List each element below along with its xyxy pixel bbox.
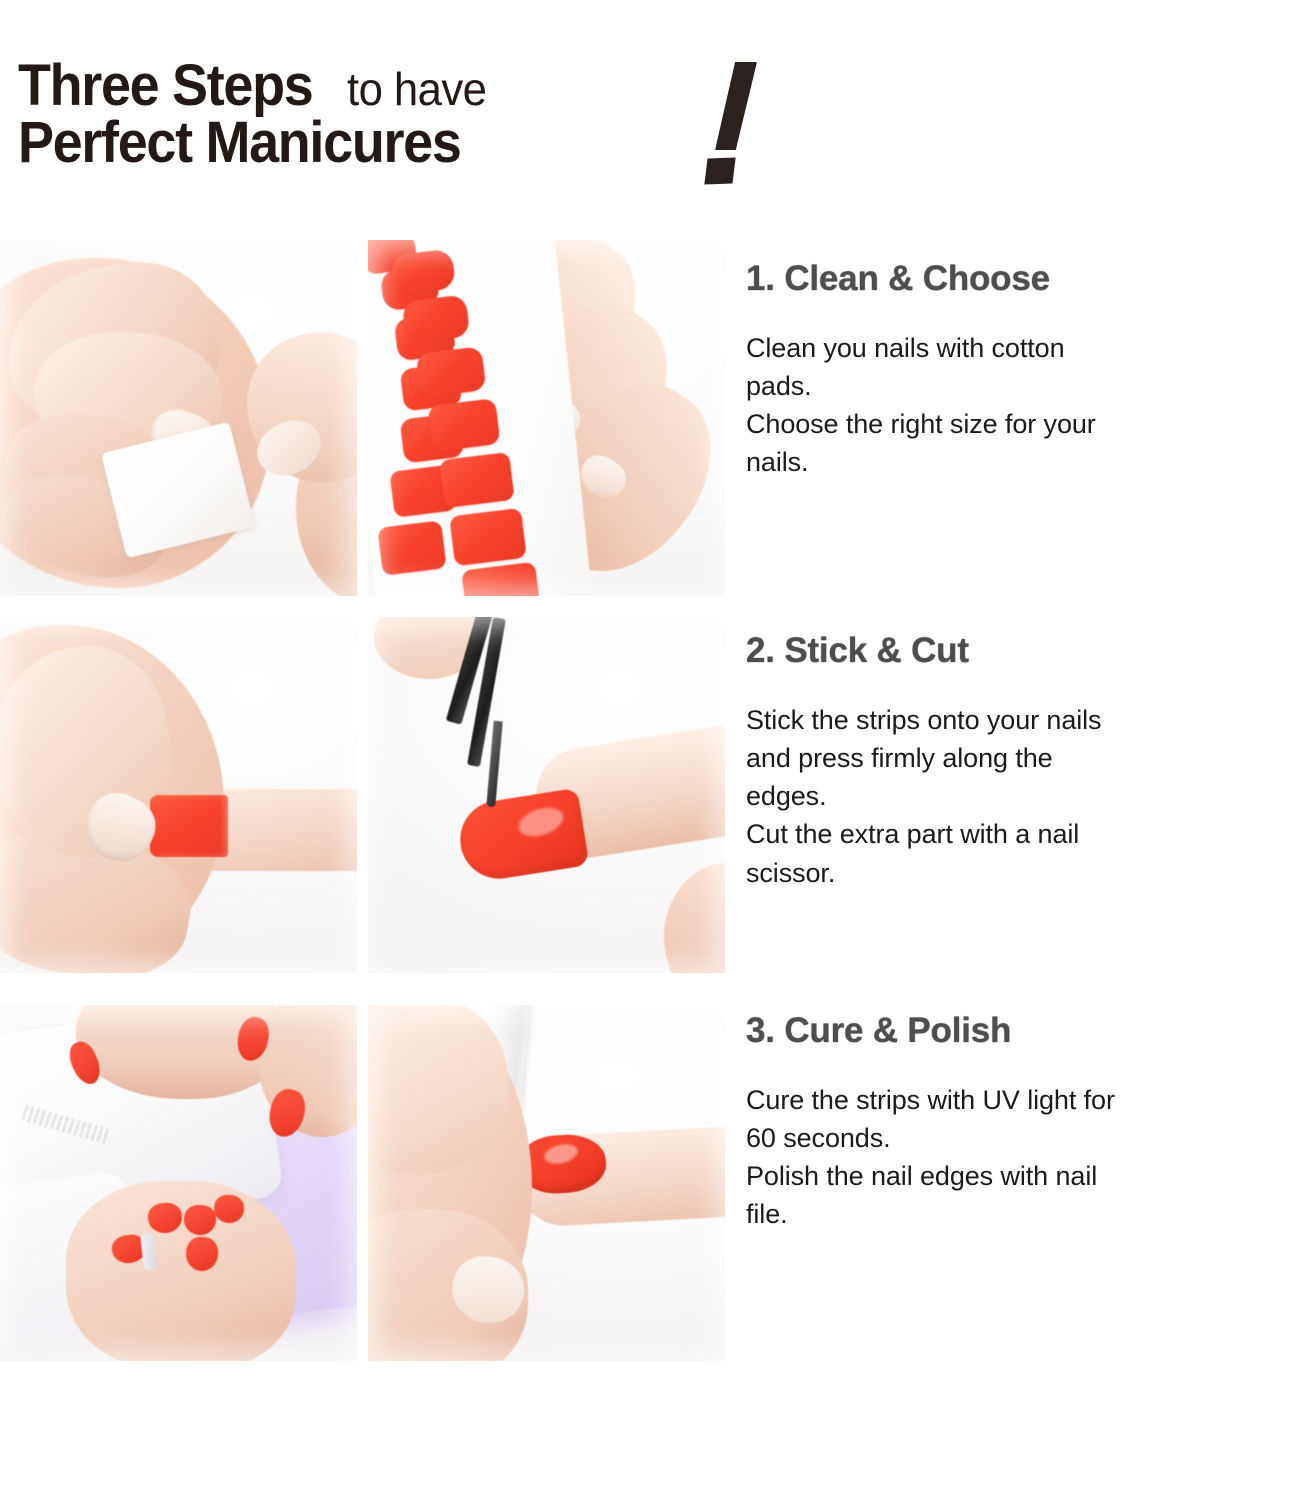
- step-2-body: Stick the strips onto your nails and pre…: [746, 701, 1300, 893]
- photo-polish-with-nail-file: [368, 1005, 725, 1361]
- photo-stick-strip-on-nail: [0, 617, 357, 973]
- step-2-line-2: and press firmly along the: [746, 739, 1300, 777]
- photo-clean-with-cotton-pad: [0, 240, 357, 596]
- step-2-line-4: Cut the extra part with a nail: [746, 815, 1300, 853]
- photo-grid: [0, 240, 727, 1376]
- step-3-block: 3. Cure & Polish Cure the strips with UV…: [746, 1012, 1300, 1234]
- step-2-line-1: Stick the strips onto your nails: [746, 701, 1300, 739]
- photo-row-step-3: [0, 1005, 727, 1361]
- step-2-title: 2. Stick & Cut: [746, 632, 1300, 671]
- header-subtitle-strong: Perfect Manicures: [18, 115, 461, 172]
- step-2-line-3: edges.: [746, 777, 1300, 815]
- step-1-block: 1. Clean & Choose Clean you nails with c…: [746, 260, 1300, 482]
- header-title-light: to have: [347, 67, 486, 112]
- photo-nail-strip-sheet: [368, 240, 725, 596]
- step-2-block: 2. Stick & Cut Stick the strips onto you…: [746, 632, 1300, 892]
- step-1-line-4: nails.: [746, 443, 1300, 481]
- header-line-2: Perfect Manicures: [18, 115, 818, 172]
- step-3-line-3: Polish the nail edges with nail: [746, 1157, 1300, 1195]
- step-1-line-2: pads.: [746, 367, 1300, 405]
- photo-cut-with-scissors: [368, 617, 725, 973]
- step-3-line-1: Cure the strips with UV light for: [746, 1081, 1300, 1119]
- photo-cure-under-uv-lamp: [0, 1005, 357, 1361]
- page-header: Three Stepsto have Perfect Manicures: [18, 58, 818, 208]
- step-1-body: Clean you nails with cotton pads. Choose…: [746, 329, 1300, 482]
- step-1-title: 1. Clean & Choose: [746, 260, 1300, 299]
- exclamation-stem: [715, 62, 757, 150]
- step-3-line-4: file.: [746, 1195, 1300, 1233]
- exclamation-dot: [704, 158, 735, 185]
- header-line-1: Three Stepsto have: [18, 58, 818, 115]
- photo-row-step-1: [0, 240, 727, 596]
- step-1-line-3: Choose the right size for your: [746, 405, 1300, 443]
- step-3-body: Cure the strips with UV light for 60 sec…: [746, 1081, 1300, 1234]
- step-3-line-2: 60 seconds.: [746, 1119, 1300, 1157]
- photo-row-step-2: [0, 617, 727, 973]
- step-3-title: 3. Cure & Polish: [746, 1012, 1300, 1051]
- step-1-line-1: Clean you nails with cotton: [746, 329, 1300, 367]
- exclamation-mark-icon: [700, 62, 786, 192]
- step-2-line-5: scissor.: [746, 854, 1300, 892]
- scissor-tip: [486, 721, 502, 807]
- header-title-strong: Three Steps: [18, 58, 312, 115]
